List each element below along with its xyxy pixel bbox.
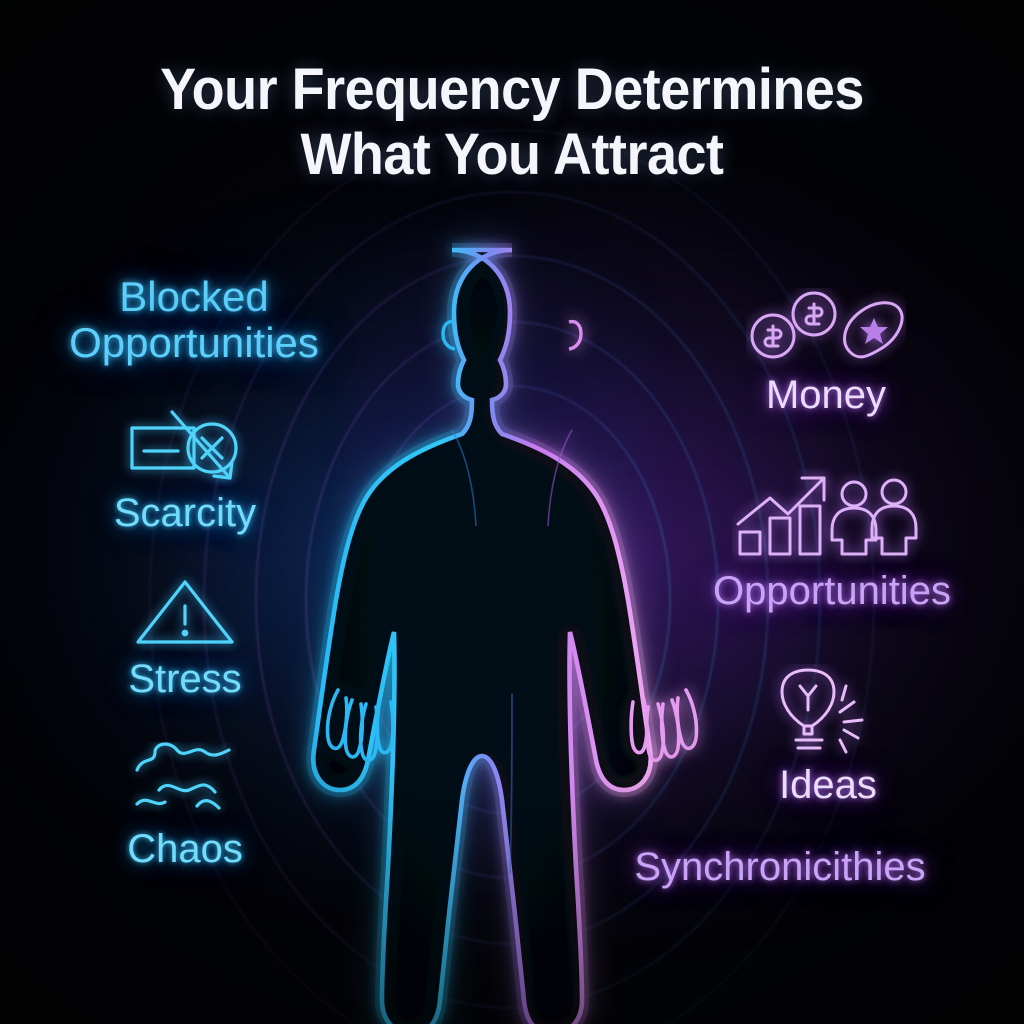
no-money-card-icon (120, 404, 250, 486)
right-item-label-opportunities: Opportunities (676, 570, 988, 612)
page-title: Your Frequency Determines What You Attra… (36, 58, 988, 188)
left-item-scarcity[interactable]: Scarcity (65, 404, 305, 534)
left-item-stress[interactable]: Stress (65, 572, 305, 700)
left-item-label-chaos: Chaos (65, 828, 305, 870)
growth-chart-people-icon (732, 468, 932, 564)
right-item-synchronicithies[interactable]: Synchronicithies (560, 846, 1000, 888)
left-heading-blocked-opportunities: Blocked Opportunities (14, 274, 374, 366)
coins-icon (746, 288, 906, 370)
left-item-label-stress: Stress (65, 658, 305, 700)
left-heading-line-1: Blocked (14, 274, 374, 320)
right-item-label-money: Money (706, 374, 946, 416)
right-item-opportunities[interactable]: Opportunities (676, 468, 988, 612)
infographic-poster: Your Frequency Determines What You Attra… (0, 0, 1024, 1024)
left-item-chaos[interactable]: Chaos (65, 742, 305, 870)
lightbulb-icon (762, 664, 894, 760)
chaotic-waves-icon (123, 742, 247, 820)
right-item-label-synchronicithies: Synchronicithies (560, 846, 1000, 888)
left-item-label-scarcity: Scarcity (65, 492, 305, 534)
right-item-money[interactable]: Money (706, 288, 946, 416)
right-item-label-ideas: Ideas (708, 764, 948, 806)
left-heading-line-2: Opportunities (14, 320, 374, 366)
right-item-ideas[interactable]: Ideas (708, 664, 948, 806)
title-line-2: What You Attract (36, 123, 988, 188)
title-line-1: Your Frequency Determines (160, 57, 864, 122)
warning-triangle-icon (126, 572, 244, 652)
